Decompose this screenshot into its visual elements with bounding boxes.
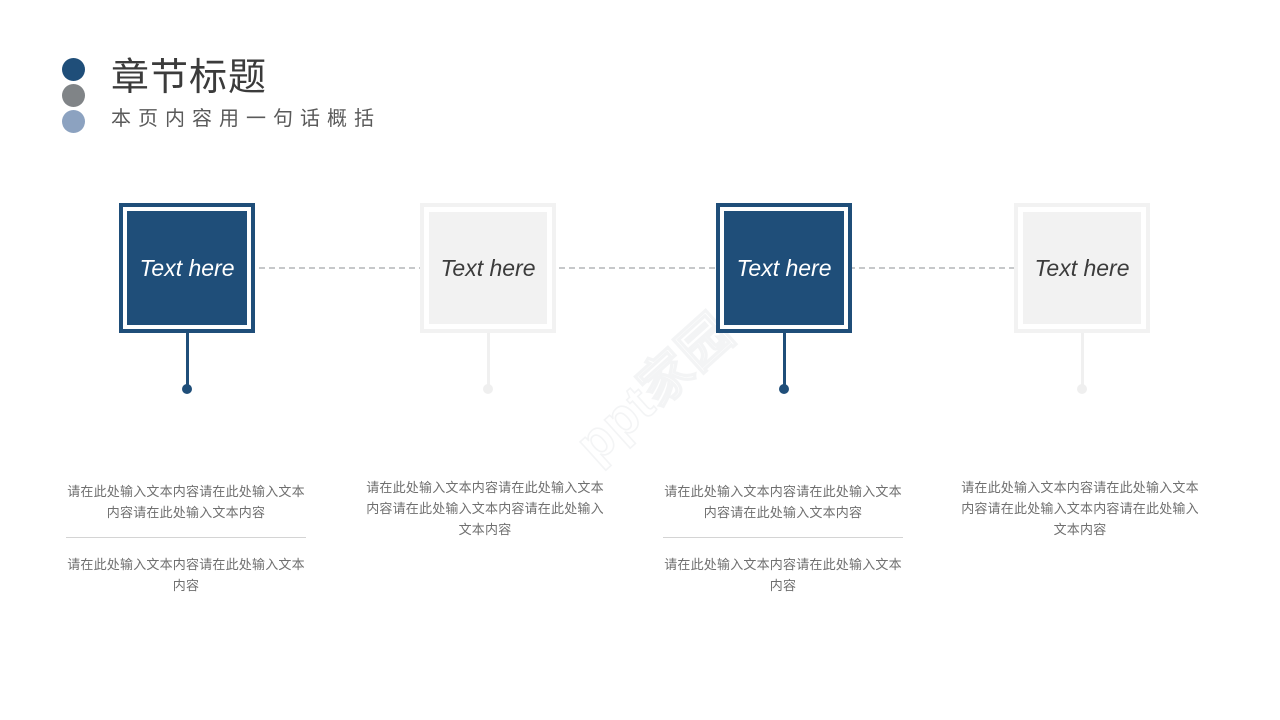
description-column-4-block-1: 请在此处输入文本内容请在此处输入文本内容请在此处输入文本内容请在此处输入文本内容	[961, 477, 1199, 540]
timeline-node-2-label: Text here	[440, 255, 535, 282]
timeline-node-2-box[interactable]: Text here	[420, 203, 556, 333]
timeline-node-3-stem-dot-icon	[779, 384, 789, 394]
dot-light-blue-icon	[62, 110, 85, 133]
header-dot-group	[62, 58, 88, 136]
description-column-3-block-1: 请在此处输入文本内容请在此处输入文本内容请在此处输入文本内容	[663, 481, 903, 523]
dot-gray-icon	[62, 84, 85, 107]
slide-header: 章节标题 本页内容用一句话概括	[62, 58, 682, 148]
timeline-node-4[interactable]: Text here	[1014, 203, 1150, 333]
timeline-node-4-stem	[1081, 333, 1084, 385]
description-column-3-divider	[663, 537, 903, 538]
timeline-dashed-connector	[119, 267, 1145, 269]
description-column-3: 请在此处输入文本内容请在此处输入文本内容请在此处输入文本内容 请在此处输入文本内…	[663, 481, 903, 596]
timeline-node-3-box[interactable]: Text here	[716, 203, 852, 333]
description-column-1: 请在此处输入文本内容请在此处输入文本内容请在此处输入文本内容 请在此处输入文本内…	[66, 481, 306, 596]
header-text-group: 章节标题 本页内容用一句话概括	[111, 54, 381, 134]
description-column-2: 请在此处输入文本内容请在此处输入文本内容请在此处输入文本内容请在此处输入文本内容	[366, 477, 604, 540]
description-column-1-block-1: 请在此处输入文本内容请在此处输入文本内容请在此处输入文本内容	[66, 481, 306, 523]
description-column-3-block-2: 请在此处输入文本内容请在此处输入文本内容	[663, 554, 903, 596]
timeline-node-1-box[interactable]: Text here	[119, 203, 255, 333]
timeline-node-3-stem	[783, 333, 786, 385]
timeline-node-4-label: Text here	[1034, 255, 1129, 282]
timeline-node-3[interactable]: Text here	[716, 203, 852, 333]
timeline-node-2-stem-dot-icon	[483, 384, 493, 394]
timeline-node-3-label: Text here	[736, 255, 831, 282]
slide-canvas: ppt家园 章节标题 本页内容用一句话概括 Text here Text her…	[0, 0, 1280, 720]
timeline-node-1-stem-dot-icon	[182, 384, 192, 394]
description-column-1-block-2: 请在此处输入文本内容请在此处输入文本内容	[66, 554, 306, 596]
dot-navy-icon	[62, 58, 85, 81]
timeline-node-2-stem	[487, 333, 490, 385]
timeline-node-4-stem-dot-icon	[1077, 384, 1087, 394]
timeline-node-1[interactable]: Text here	[119, 203, 255, 333]
timeline-node-2[interactable]: Text here	[420, 203, 556, 333]
timeline-node-1-label: Text here	[139, 255, 234, 282]
timeline-node-1-stem	[186, 333, 189, 385]
description-column-1-divider	[66, 537, 306, 538]
description-column-4: 请在此处输入文本内容请在此处输入文本内容请在此处输入文本内容请在此处输入文本内容	[961, 477, 1199, 540]
page-title: 章节标题	[111, 54, 381, 102]
timeline-node-4-box[interactable]: Text here	[1014, 203, 1150, 333]
description-column-2-block-1: 请在此处输入文本内容请在此处输入文本内容请在此处输入文本内容请在此处输入文本内容	[366, 477, 604, 540]
page-subtitle: 本页内容用一句话概括	[111, 104, 381, 134]
